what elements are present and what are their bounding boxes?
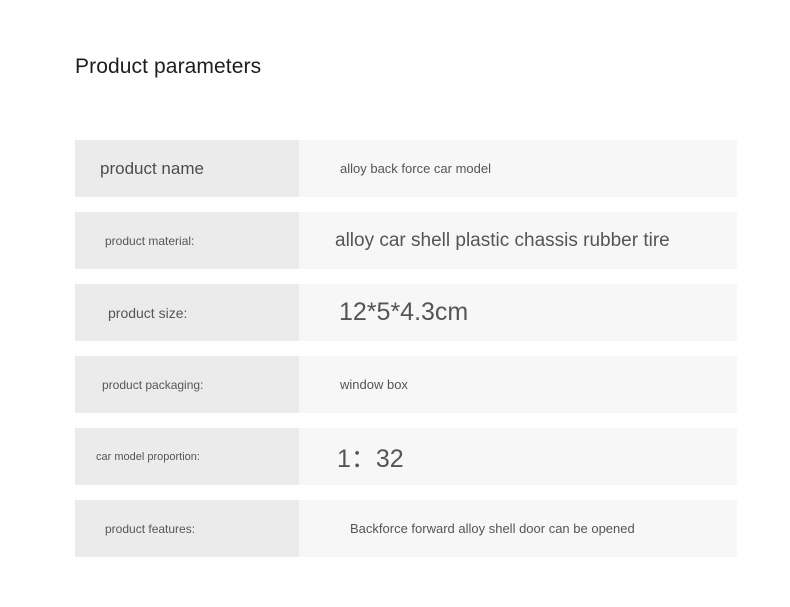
parameter-label-product-name: product name: [75, 159, 204, 179]
parameter-label-cell: product name: [75, 140, 299, 197]
parameter-value-product-size: 12*5*4.3cm: [299, 298, 468, 327]
parameter-label-cell: product size:: [75, 284, 299, 341]
parameter-value-product-features: Backforce forward alloy shell door can b…: [299, 521, 635, 536]
parameter-value-cell: Backforce forward alloy shell door can b…: [299, 500, 737, 557]
parameter-value-car-model-proportion: 1：32: [299, 439, 404, 475]
parameter-value-cell: alloy back force car model: [299, 140, 737, 197]
parameter-value-product-name: alloy back force car model: [299, 161, 491, 176]
parameter-label-cell: product material:: [75, 212, 299, 269]
table-row: product packaging: window box: [75, 356, 737, 413]
parameter-label-product-features: product features:: [75, 522, 195, 536]
parameter-value-product-packaging: window box: [299, 377, 408, 392]
parameter-value-cell: 1：32: [299, 428, 737, 485]
parameter-value-cell: window box: [299, 356, 737, 413]
product-parameters-table: product name alloy back force car model …: [75, 140, 737, 572]
parameter-label-cell: product packaging:: [75, 356, 299, 413]
parameter-label-product-packaging: product packaging:: [75, 378, 203, 392]
parameter-label-cell: product features:: [75, 500, 299, 557]
parameter-value-cell: 12*5*4.3cm: [299, 284, 737, 341]
parameter-label-product-material: product material:: [75, 234, 194, 248]
table-row: product name alloy back force car model: [75, 140, 737, 197]
table-row: product material: alloy car shell plasti…: [75, 212, 737, 269]
table-row: car model proportion: 1：32: [75, 428, 737, 485]
table-row: product features: Backforce forward allo…: [75, 500, 737, 557]
page-title: Product parameters: [75, 52, 261, 82]
parameter-label-cell: car model proportion:: [75, 428, 299, 485]
parameter-label-car-model-proportion: car model proportion:: [75, 451, 200, 463]
parameter-value-cell: alloy car shell plastic chassis rubber t…: [299, 212, 737, 269]
table-row: product size: 12*5*4.3cm: [75, 284, 737, 341]
parameter-label-product-size: product size:: [75, 305, 187, 321]
parameter-value-product-material: alloy car shell plastic chassis rubber t…: [299, 230, 670, 252]
